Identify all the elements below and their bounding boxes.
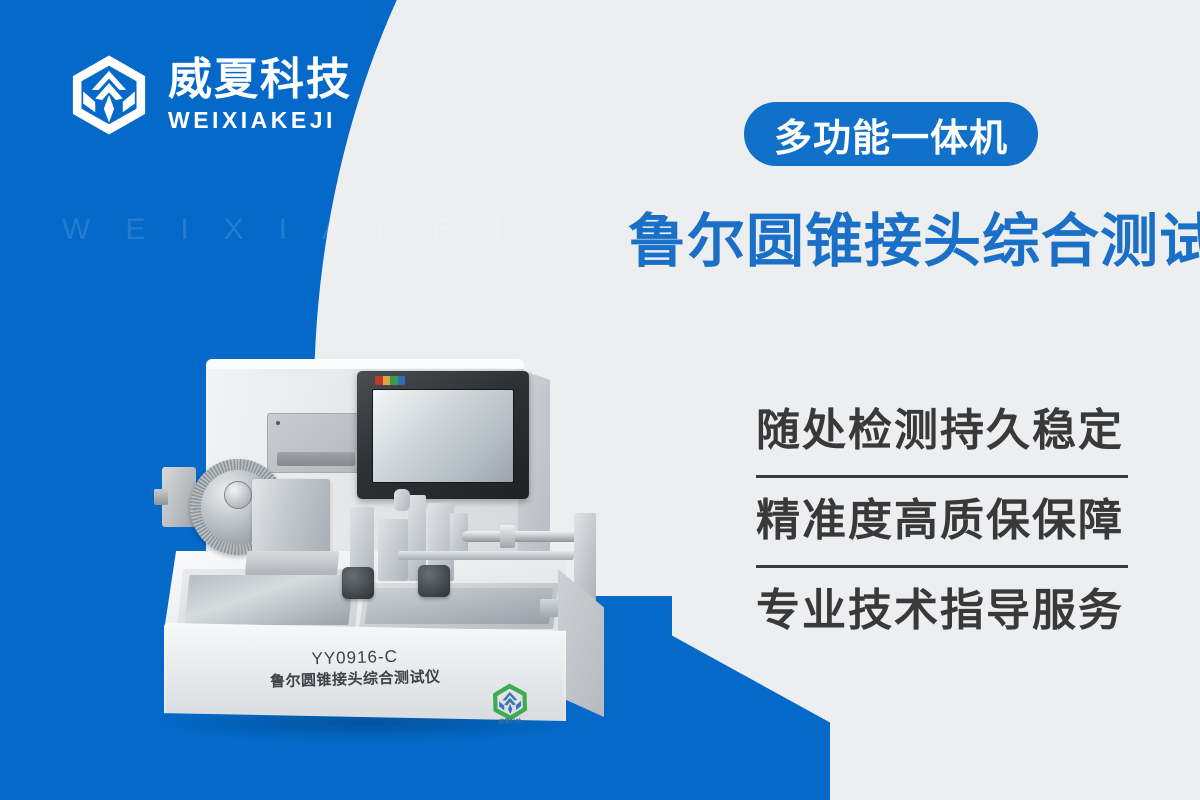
machine-brand-logo-text: 威夏科技 — [488, 716, 532, 725]
brand-watermark: WEIXIAKEJI — [62, 213, 580, 247]
feature-item: 专业技术指导服务 — [756, 580, 1128, 645]
category-badge: 多功能一体机 — [744, 102, 1038, 166]
product-banner: WEIXIAKEJI 威夏科技 WEIXIAKEJI 多功能一体机 鲁尔圆锥接头… — [0, 0, 1200, 800]
brand-name-cn: 威夏科技 — [168, 58, 352, 102]
brand-logo-text: 威夏科技 WEIXIAKEJI — [168, 58, 352, 132]
fixture-post-2 — [378, 519, 408, 581]
machine-left-tray — [177, 569, 362, 631]
machine-left-tray-inner — [184, 575, 353, 625]
hmi-vendor-logo-icon — [375, 376, 405, 385]
machine-dial-hub — [224, 481, 252, 509]
hmi-touchscreen — [357, 371, 529, 499]
brand-name-en: WEIXIAKEJI — [168, 109, 352, 132]
hmi-screen-surface — [372, 389, 514, 483]
feature-separator — [756, 475, 1128, 478]
hexagon-arrow-logo-icon — [66, 52, 152, 138]
machine-knob-left — [342, 567, 374, 599]
feature-item: 精准度高质保保障 — [756, 490, 1128, 555]
machine-cabinet-top-edge — [206, 359, 524, 369]
machine-motor-block — [252, 479, 330, 559]
page-title: 鲁尔圆锥接头综合测试仪 — [628, 194, 1200, 278]
machine-guide-rail — [398, 551, 575, 560]
machine-model-label: YY0916-C 鲁尔圆锥接头综合测试仪 — [189, 642, 520, 694]
feature-separator — [756, 565, 1128, 568]
machine-knob-right — [418, 565, 450, 597]
fixture-cap — [394, 489, 410, 511]
hatch-screw-dot — [276, 421, 280, 425]
product-image: YY0916-C 鲁尔圆锥接头综合测试仪 威夏科技 — [150, 355, 610, 765]
machine-shaft-collar — [500, 525, 515, 548]
feature-item: 随处检测持久稳定 — [756, 400, 1128, 465]
machine-access-hatch — [267, 413, 364, 473]
brand-logo: 威夏科技 WEIXIAKEJI — [66, 52, 352, 138]
machine-motor-stand — [245, 551, 339, 575]
feature-list: 随处检测持久稳定 精准度高质保保障 专业技术指导服务 — [756, 400, 1128, 645]
